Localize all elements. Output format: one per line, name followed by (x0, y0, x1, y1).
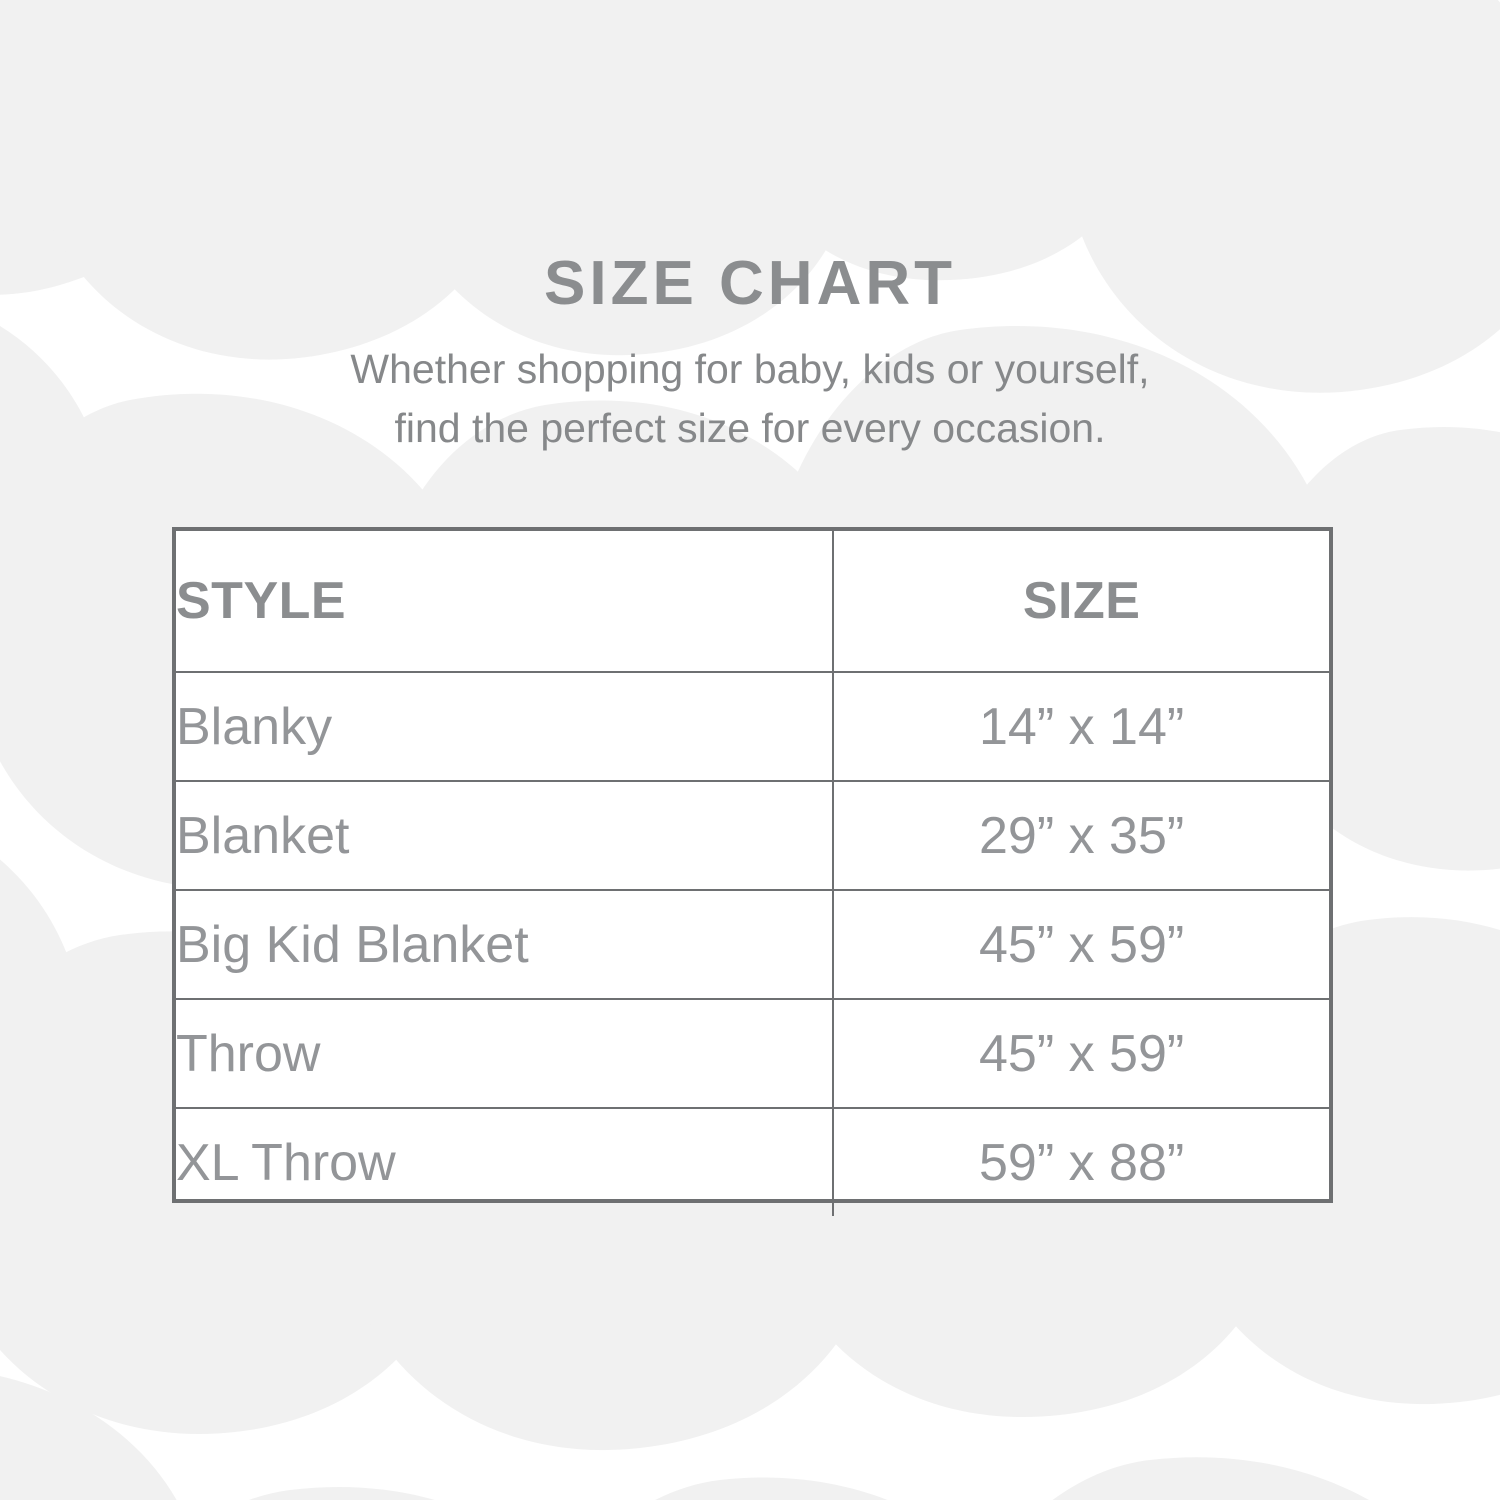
column-header-size: SIZE (833, 531, 1329, 672)
cell-style: XL Throw (176, 1108, 833, 1216)
subtitle-line-2: find the perfect size for every occasion… (0, 399, 1500, 458)
size-table: STYLE SIZE Blanky 14” x 14” Blanket 29” … (176, 531, 1329, 1216)
table-row: Throw 45” x 59” (176, 999, 1329, 1108)
cell-size: 29” x 35” (833, 781, 1329, 890)
size-table-container: STYLE SIZE Blanky 14” x 14” Blanket 29” … (172, 527, 1333, 1203)
page-subtitle: Whether shopping for baby, kids or yours… (0, 340, 1500, 459)
table-header-row: STYLE SIZE (176, 531, 1329, 672)
subtitle-line-1: Whether shopping for baby, kids or yours… (0, 340, 1500, 399)
page-title: SIZE CHART (0, 253, 1500, 315)
table-row: Blanky 14” x 14” (176, 672, 1329, 781)
table-row: Blanket 29” x 35” (176, 781, 1329, 890)
cell-size: 45” x 59” (833, 890, 1329, 999)
cell-style: Big Kid Blanket (176, 890, 833, 999)
cell-size: 45” x 59” (833, 999, 1329, 1108)
cell-style: Blanky (176, 672, 833, 781)
cell-style: Throw (176, 999, 833, 1108)
table-row: XL Throw 59” x 88” (176, 1108, 1329, 1216)
size-chart-page: SIZE CHART Whether shopping for baby, ki… (0, 0, 1500, 1500)
cell-size: 59” x 88” (833, 1108, 1329, 1216)
column-header-style: STYLE (176, 531, 833, 672)
table-row: Big Kid Blanket 45” x 59” (176, 890, 1329, 999)
cell-size: 14” x 14” (833, 672, 1329, 781)
cell-style: Blanket (176, 781, 833, 890)
